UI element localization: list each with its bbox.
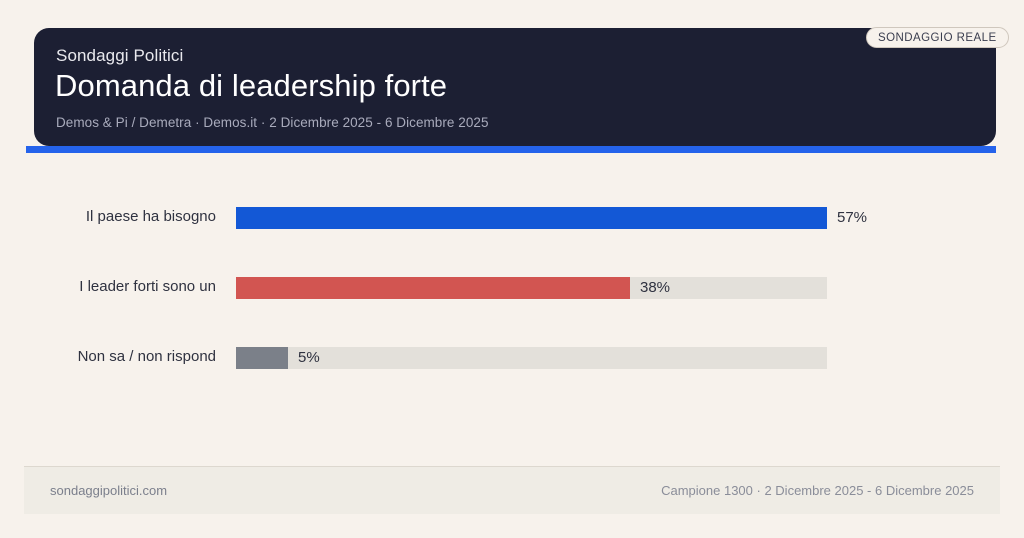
bar-track xyxy=(236,277,827,299)
header-source-meta: Demos & Pi / Demetra · Demos.it · 2 Dice… xyxy=(56,115,489,130)
status-badge-real-poll: SONDAGGIO REALE xyxy=(866,27,1009,48)
bar-row: Il paese ha bisogno 57% xyxy=(0,197,1024,247)
bar-label: Non sa / non rispond xyxy=(16,348,216,365)
header-card: Sondaggi Politici Domanda di leadership … xyxy=(34,28,996,146)
bar-track xyxy=(236,347,827,369)
bar-row: I leader forti sono un 38% xyxy=(0,267,1024,317)
bar-value-label: 57% xyxy=(837,209,867,226)
bar-fill xyxy=(236,347,288,369)
bar-fill xyxy=(236,277,630,299)
footer: sondaggipolitici.com Campione 1300 · 2 D… xyxy=(24,466,1000,514)
bar-value-label: 5% xyxy=(298,349,320,366)
header-eyebrow: Sondaggi Politici xyxy=(56,46,183,66)
page-title: Domanda di leadership forte xyxy=(55,68,447,104)
bar-track xyxy=(236,207,827,229)
bar-label: I leader forti sono un xyxy=(16,278,216,295)
bar-row: Non sa / non rispond 5% xyxy=(0,337,1024,387)
footer-site-name: sondaggipolitici.com xyxy=(50,483,167,498)
bar-fill xyxy=(236,207,827,229)
footer-sample-info: Campione 1300 · 2 Dicembre 2025 - 6 Dice… xyxy=(661,483,974,498)
bar-chart: Il paese ha bisogno 57% I leader forti s… xyxy=(0,186,1024,396)
accent-bar xyxy=(26,146,996,153)
bar-value-label: 38% xyxy=(640,279,670,296)
bar-label: Il paese ha bisogno xyxy=(16,208,216,225)
